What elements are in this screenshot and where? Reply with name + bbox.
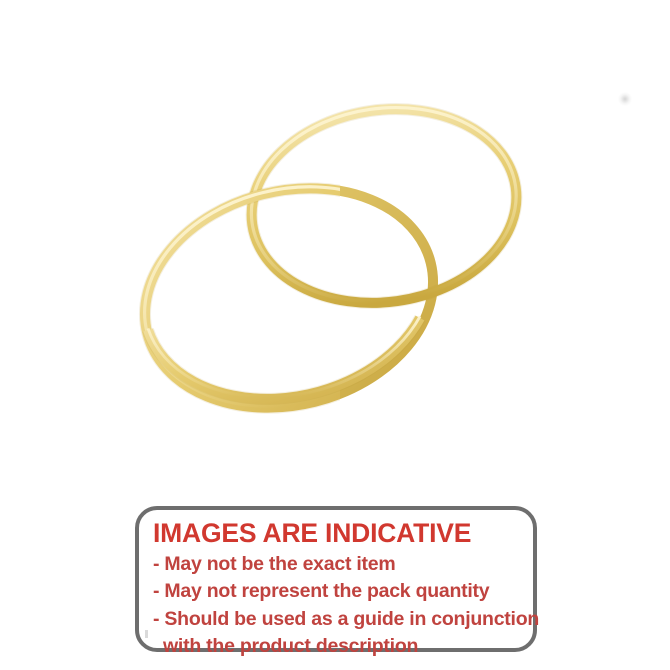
sensor-dust-speck bbox=[618, 92, 632, 106]
disclaimer-line-4: with the product description bbox=[153, 633, 529, 661]
product-image-canvas: IMAGES ARE INDICATIVE - May not be the e… bbox=[0, 0, 670, 670]
disclaimer-line-1: - May not be the exact item bbox=[153, 551, 529, 579]
disclaimer-heading: IMAGES ARE INDICATIVE bbox=[153, 514, 529, 551]
disclaimer-content: IMAGES ARE INDICATIVE - May not be the e… bbox=[153, 514, 529, 661]
oring-illustration bbox=[0, 0, 670, 470]
images-are-indicative-disclaimer: IMAGES ARE INDICATIVE - May not be the e… bbox=[135, 506, 537, 652]
stray-mark bbox=[145, 630, 148, 638]
disclaimer-line-3: - Should be used as a guide in conjuncti… bbox=[153, 606, 529, 634]
disclaimer-line-2: - May not represent the pack quantity bbox=[153, 578, 529, 606]
product-photo bbox=[0, 0, 670, 470]
